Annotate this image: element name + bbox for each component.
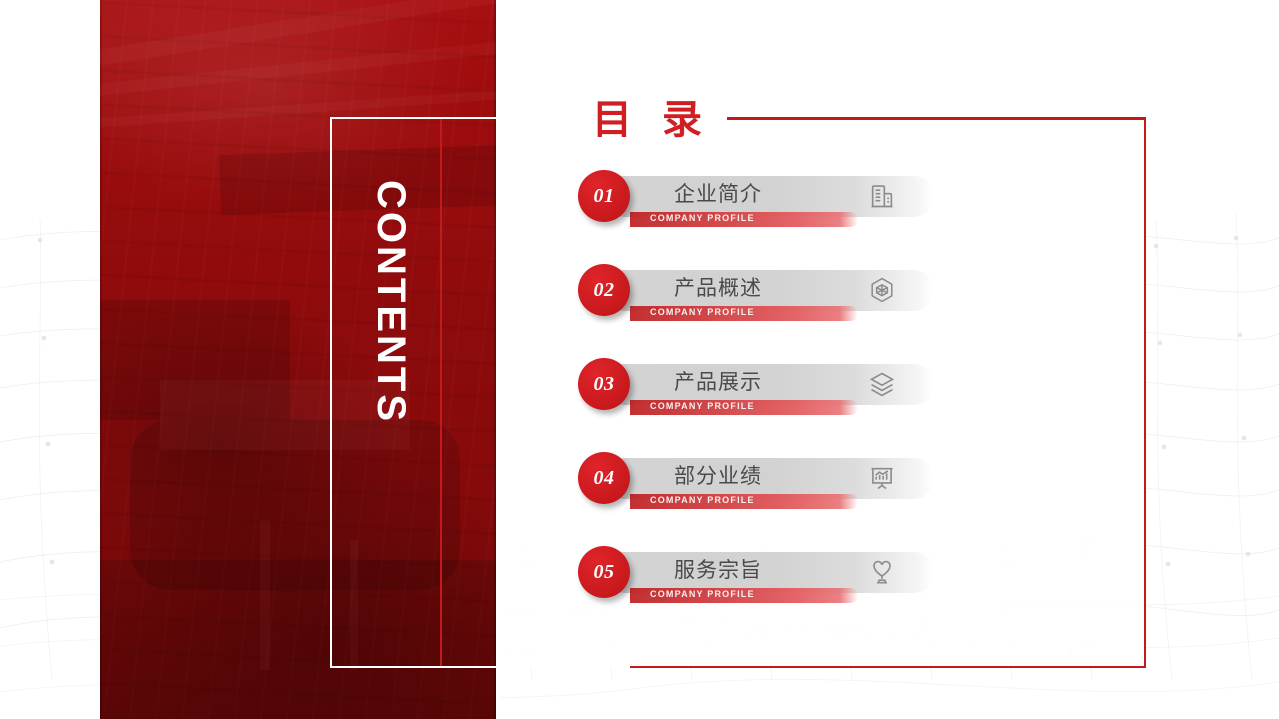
item-subtitle: COMPANY PROFILE	[650, 401, 755, 411]
heart-trophy-icon	[868, 558, 896, 586]
item-title: 产品展示	[674, 366, 762, 396]
list-item[interactable]: 产品展示 COMPANY PROFILE 03	[578, 358, 998, 452]
contents-list: 企业简介 COMPANY PROFILE 01 产品概述 COMPANY PRO…	[578, 170, 998, 640]
item-title: 企业简介	[674, 178, 762, 208]
heading-rule	[727, 117, 1146, 120]
list-item[interactable]: 部分业绩 COMPANY PROFILE 04	[578, 452, 998, 546]
cube-hexagon-icon	[868, 276, 896, 304]
item-title: 部分业绩	[674, 460, 762, 490]
list-item[interactable]: 服务宗旨 COMPANY PROFILE 05	[578, 546, 998, 640]
item-number-badge: 03	[578, 358, 630, 410]
building-icon	[868, 182, 896, 210]
item-subtitle: COMPANY PROFILE	[650, 307, 755, 317]
layers-icon	[868, 370, 896, 398]
item-subtitle: COMPANY PROFILE	[650, 213, 755, 223]
sidebar-label-contents: CONTENTS	[371, 180, 411, 500]
item-number-badge: 04	[578, 452, 630, 504]
list-item[interactable]: 企业简介 COMPANY PROFILE 01	[578, 170, 998, 264]
presentation-chart-icon	[868, 464, 896, 492]
item-title: 产品概述	[674, 272, 762, 302]
photo-left-edge	[100, 0, 102, 719]
item-subtitle: COMPANY PROFILE	[650, 589, 755, 599]
item-number-badge: 01	[578, 170, 630, 222]
item-title: 服务宗旨	[674, 554, 762, 584]
list-item[interactable]: 产品概述 COMPANY PROFILE 02	[578, 264, 998, 358]
page-title-text: 目 录	[592, 96, 728, 144]
item-subtitle: COMPANY PROFILE	[650, 495, 755, 505]
page-title: 目 录	[592, 96, 728, 144]
item-number-badge: 02	[578, 264, 630, 316]
item-number-badge: 05	[578, 546, 630, 598]
